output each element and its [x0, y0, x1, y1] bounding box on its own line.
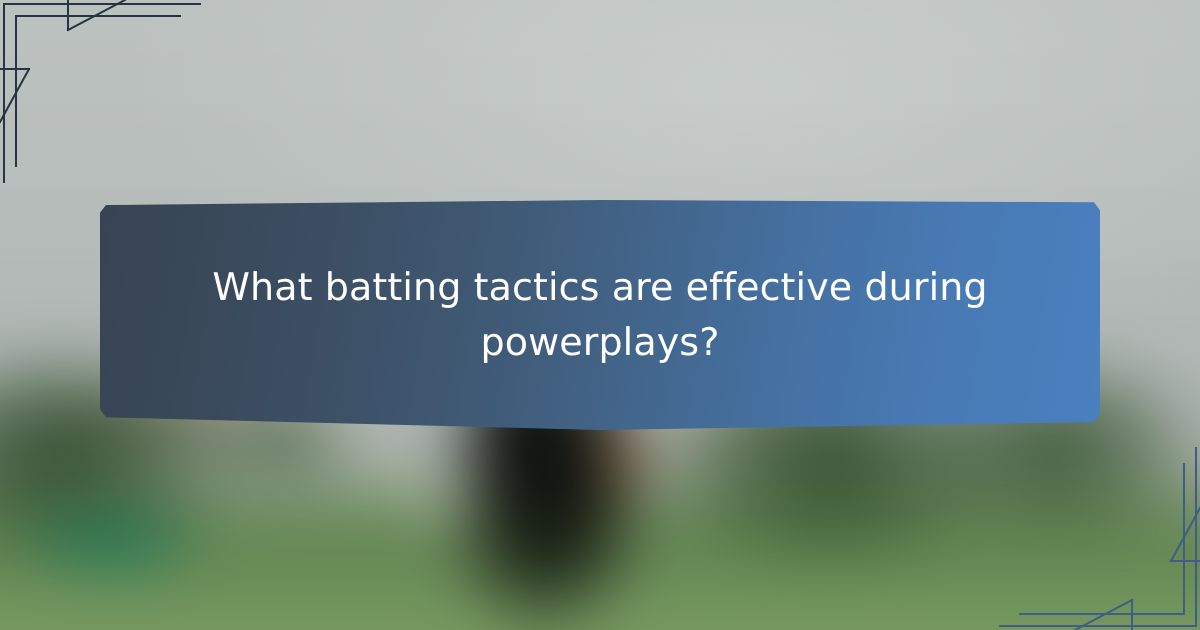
headline-banner: What batting tactics are effective durin… [100, 200, 1100, 430]
hero-banner-image: What batting tactics are effective durin… [0, 0, 1200, 630]
banner-headline-text: What batting tactics are effective durin… [100, 200, 1100, 430]
